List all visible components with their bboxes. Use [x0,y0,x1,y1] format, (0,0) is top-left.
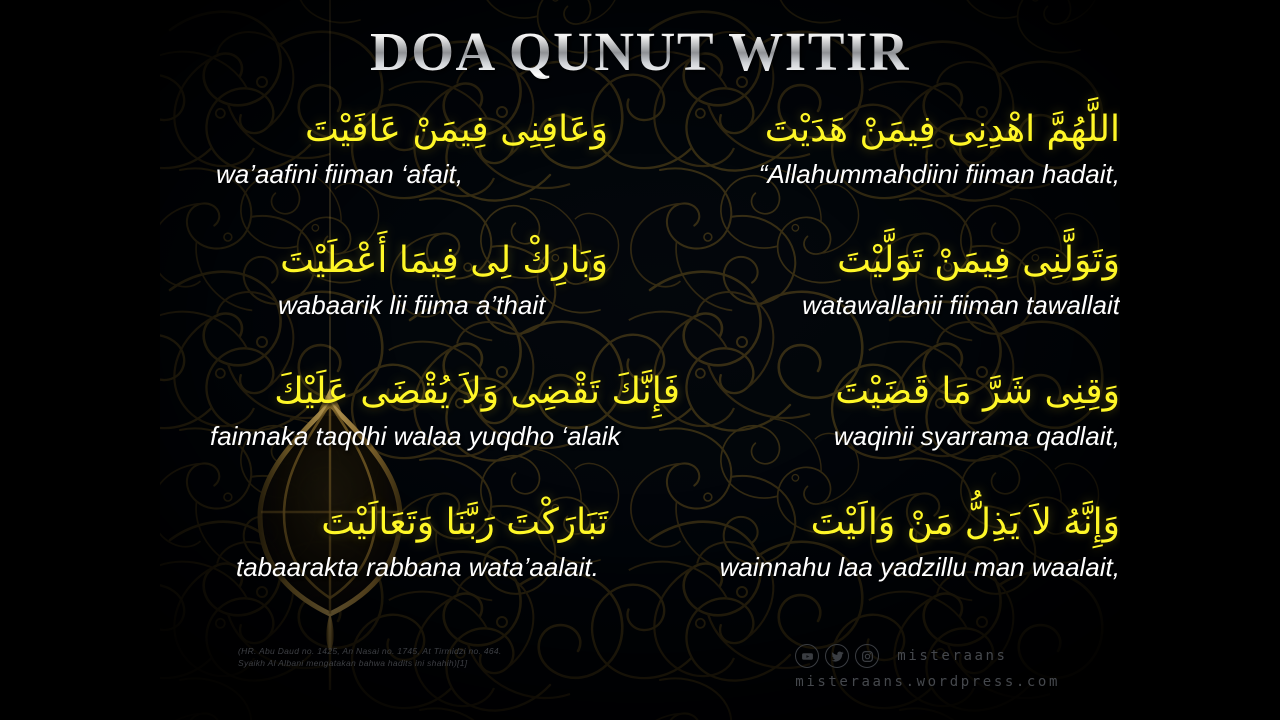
verse-row: وَقِنِى شَرَّ مَا قَضَيْتَ waqinii syarr… [160,367,1120,498]
transliteration-text: fainnaka taqdhi walaa yuqdho ‘alaik [180,421,680,452]
transliteration-text: tabaarakta rabbana wata’aalait. [178,552,608,583]
arabic-text: فَإِنَّكَ تَقْضِى وَلاَ يُقْضَى عَلَيْكَ [180,367,680,417]
footnote-line-1: (HR. Abu Daud no. 1425, An Nasai no. 174… [238,645,568,658]
verse-cell-left: وَبَارِكْ لِى فِيمَا أَعْطَيْتَ wabaarik… [188,236,608,321]
social-credit-block: misteraans misteraans.wordpress.com [795,644,1060,690]
verse-row: وَتَوَلَّنِى فِيمَنْ تَوَلَّيْتَ watawal… [160,236,1120,367]
slide-content-area: DOA QUNUT WITIR اللَّهُمَّ اهْدِنِى فِيم… [160,0,1120,720]
hadith-source-footnote: (HR. Abu Daud no. 1425, An Nasai no. 174… [238,645,568,671]
transliteration-text: “Allahummahdiini fiiman hadait, [660,159,1120,190]
transliteration-text: wa’aafini fiiman ‘afait, [188,159,608,190]
arabic-text: وَقِنِى شَرَّ مَا قَضَيْتَ [720,367,1120,417]
verse-cell-left: تَبَارَكْتَ رَبَّنَا وَتَعَالَيْتَ tabaa… [178,498,608,583]
instagram-icon[interactable] [855,644,879,668]
youtube-icon[interactable] [795,644,819,668]
social-icon-row: misteraans [795,644,1060,668]
doa-verses-grid: اللَّهُمَّ اهْدِنِى فِيمَنْ هَدَيْتَ “Al… [160,105,1120,629]
verse-row: وَإِنَّهُ لاَ يَذِلُّ مَنْ وَالَيْتَ wai… [160,498,1120,629]
arabic-text: وَبَارِكْ لِى فِيمَا أَعْطَيْتَ [188,236,608,286]
slide-canvas: DOA QUNUT WITIR اللَّهُمَّ اهْدِنِى فِيم… [0,0,1280,720]
transliteration-text: watawallanii fiiman tawallait [660,290,1120,321]
verse-cell-right: وَتَوَلَّنِى فِيمَنْ تَوَلَّيْتَ watawal… [660,236,1120,321]
page-title: DOA QUNUT WITIR [160,20,1120,83]
social-handle: misteraans [897,648,1007,664]
arabic-text: وَإِنَّهُ لاَ يَذِلُّ مَنْ وَالَيْتَ [670,498,1120,548]
arabic-text: اللَّهُمَّ اهْدِنِى فِيمَنْ هَدَيْتَ [660,105,1120,155]
verse-cell-right: وَإِنَّهُ لاَ يَذِلُّ مَنْ وَالَيْتَ wai… [670,498,1120,583]
website-url: misteraans.wordpress.com [795,674,1060,690]
transliteration-text: waqinii syarrama qadlait, [720,421,1120,452]
verse-cell-right: اللَّهُمَّ اهْدِنِى فِيمَنْ هَدَيْتَ “Al… [660,105,1120,190]
letterbox-right [1120,0,1280,720]
transliteration-text: wabaarik lii fiima a’thait [188,290,608,321]
verse-cell-right: وَقِنِى شَرَّ مَا قَضَيْتَ waqinii syarr… [720,367,1120,452]
footnote-line-2: Syaikh Al Albani mengatakan bahwa hadits… [238,657,568,670]
twitter-icon[interactable] [825,644,849,668]
verse-cell-left: فَإِنَّكَ تَقْضِى وَلاَ يُقْضَى عَلَيْكَ… [180,367,680,452]
arabic-text: وَتَوَلَّنِى فِيمَنْ تَوَلَّيْتَ [660,236,1120,286]
arabic-text: تَبَارَكْتَ رَبَّنَا وَتَعَالَيْتَ [178,498,608,548]
verse-cell-left: وَعَافِنِى فِيمَنْ عَافَيْتَ wa’aafini f… [188,105,608,190]
transliteration-text: wainnahu laa yadzillu man waalait, [670,552,1120,583]
letterbox-left [0,0,160,720]
arabic-text: وَعَافِنِى فِيمَنْ عَافَيْتَ [188,105,608,155]
verse-row: اللَّهُمَّ اهْدِنِى فِيمَنْ هَدَيْتَ “Al… [160,105,1120,236]
